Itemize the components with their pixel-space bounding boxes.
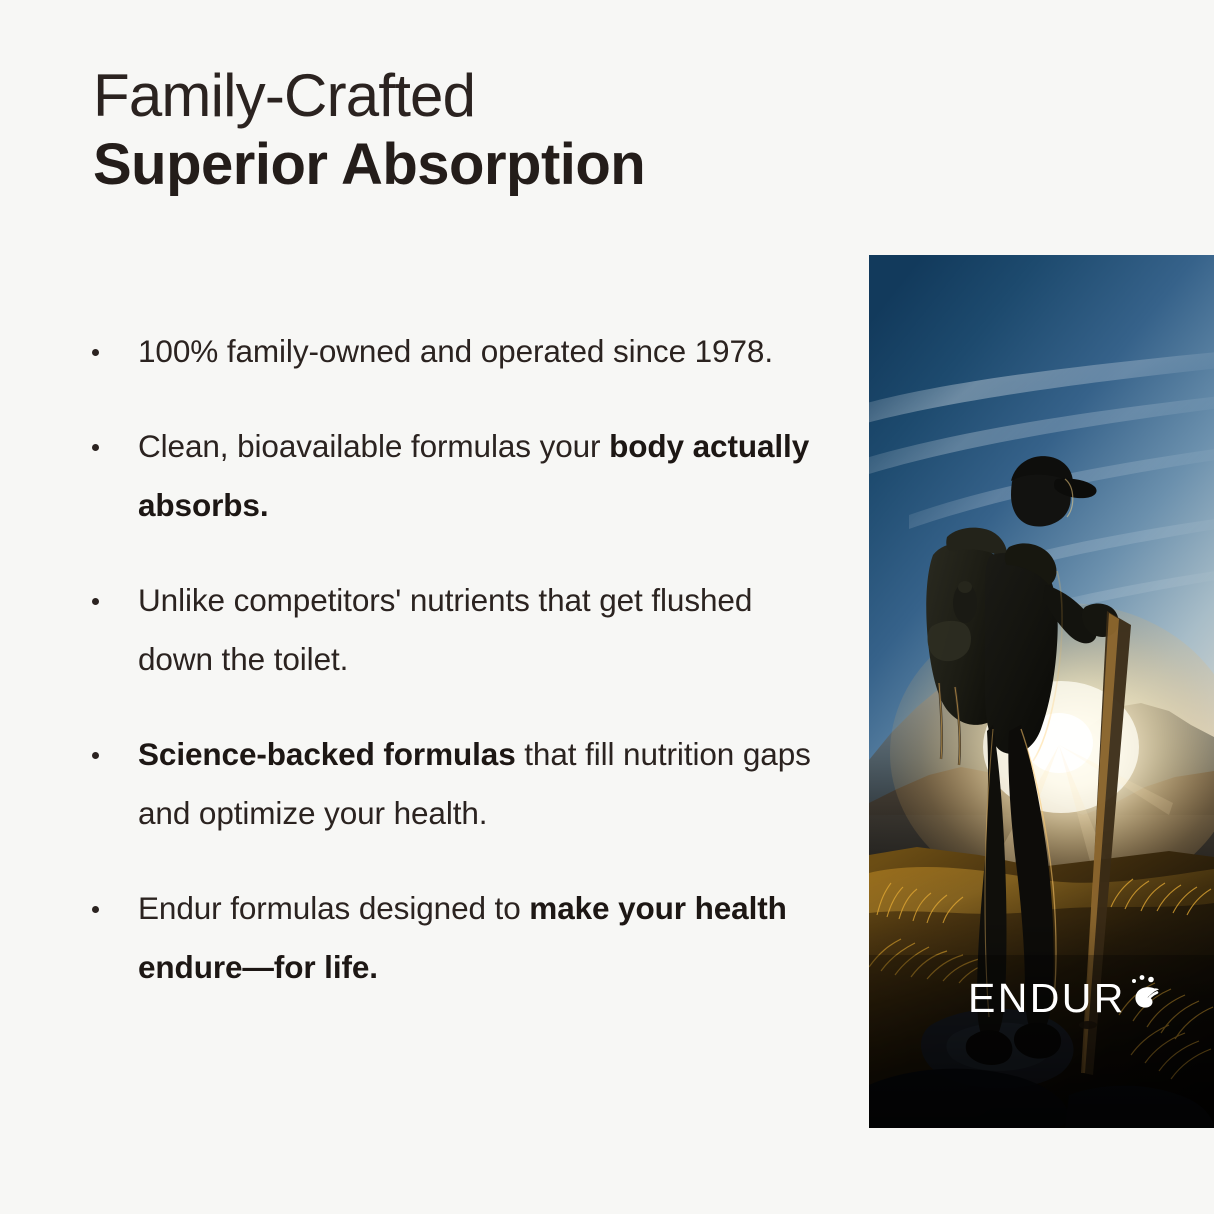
bullet-dot-icon (86, 417, 138, 476)
bullet-dot-icon (86, 571, 138, 630)
heading-line-secondary: Superior Absorption (93, 131, 853, 199)
heading-line-primary: Family-Crafted (93, 62, 853, 129)
endur-logo: ENDUR (968, 978, 1167, 1019)
list-item-text: Endur formulas designed to make your hea… (138, 879, 826, 997)
bullet-dot-icon (92, 598, 99, 605)
list-item-plain: Clean, bioavailable formulas your (138, 428, 609, 464)
bullet-dot-icon (92, 752, 99, 759)
list-item: 100% family-owned and operated since 197… (86, 322, 826, 381)
list-item-plain: 100% family-owned and operated since 197… (138, 333, 773, 369)
marketing-image-canvas: Family-Crafted Superior Absorption 100% … (0, 0, 1214, 1214)
page-title: Family-Crafted Superior Absorption (93, 62, 853, 200)
bullet-dot-icon (86, 725, 138, 784)
list-item-plain: Endur formulas designed to (138, 890, 529, 926)
bullet-dot-icon (86, 879, 138, 938)
list-item-text: Unlike competitors' nutrients that get f… (138, 571, 826, 689)
leaf-swirl-icon (1121, 971, 1167, 1019)
list-item-text: Science-backed formulas that fill nutrit… (138, 725, 826, 843)
list-item: Clean, bioavailable formulas your body a… (86, 417, 826, 535)
list-item-emphasis: Science-backed formulas (138, 736, 516, 772)
benefits-list: 100% family-owned and operated since 197… (86, 322, 826, 997)
list-item: Science-backed formulas that fill nutrit… (86, 725, 826, 843)
list-item: Endur formulas designed to make your hea… (86, 879, 826, 997)
bullet-dot-icon (86, 322, 138, 381)
bullet-dot-icon (92, 349, 99, 356)
list-item-text: Clean, bioavailable formulas your body a… (138, 417, 826, 535)
endur-wordmark: ENDUR (968, 978, 1126, 1019)
list-item-plain: Unlike competitors' nutrients that get f… (138, 582, 752, 677)
bullet-dot-icon (92, 444, 99, 451)
bullet-dot-icon (92, 906, 99, 913)
list-item: Unlike competitors' nutrients that get f… (86, 571, 826, 689)
list-item-text: 100% family-owned and operated since 197… (138, 322, 826, 381)
endur-leaf-swirl-mark (1121, 971, 1167, 1019)
